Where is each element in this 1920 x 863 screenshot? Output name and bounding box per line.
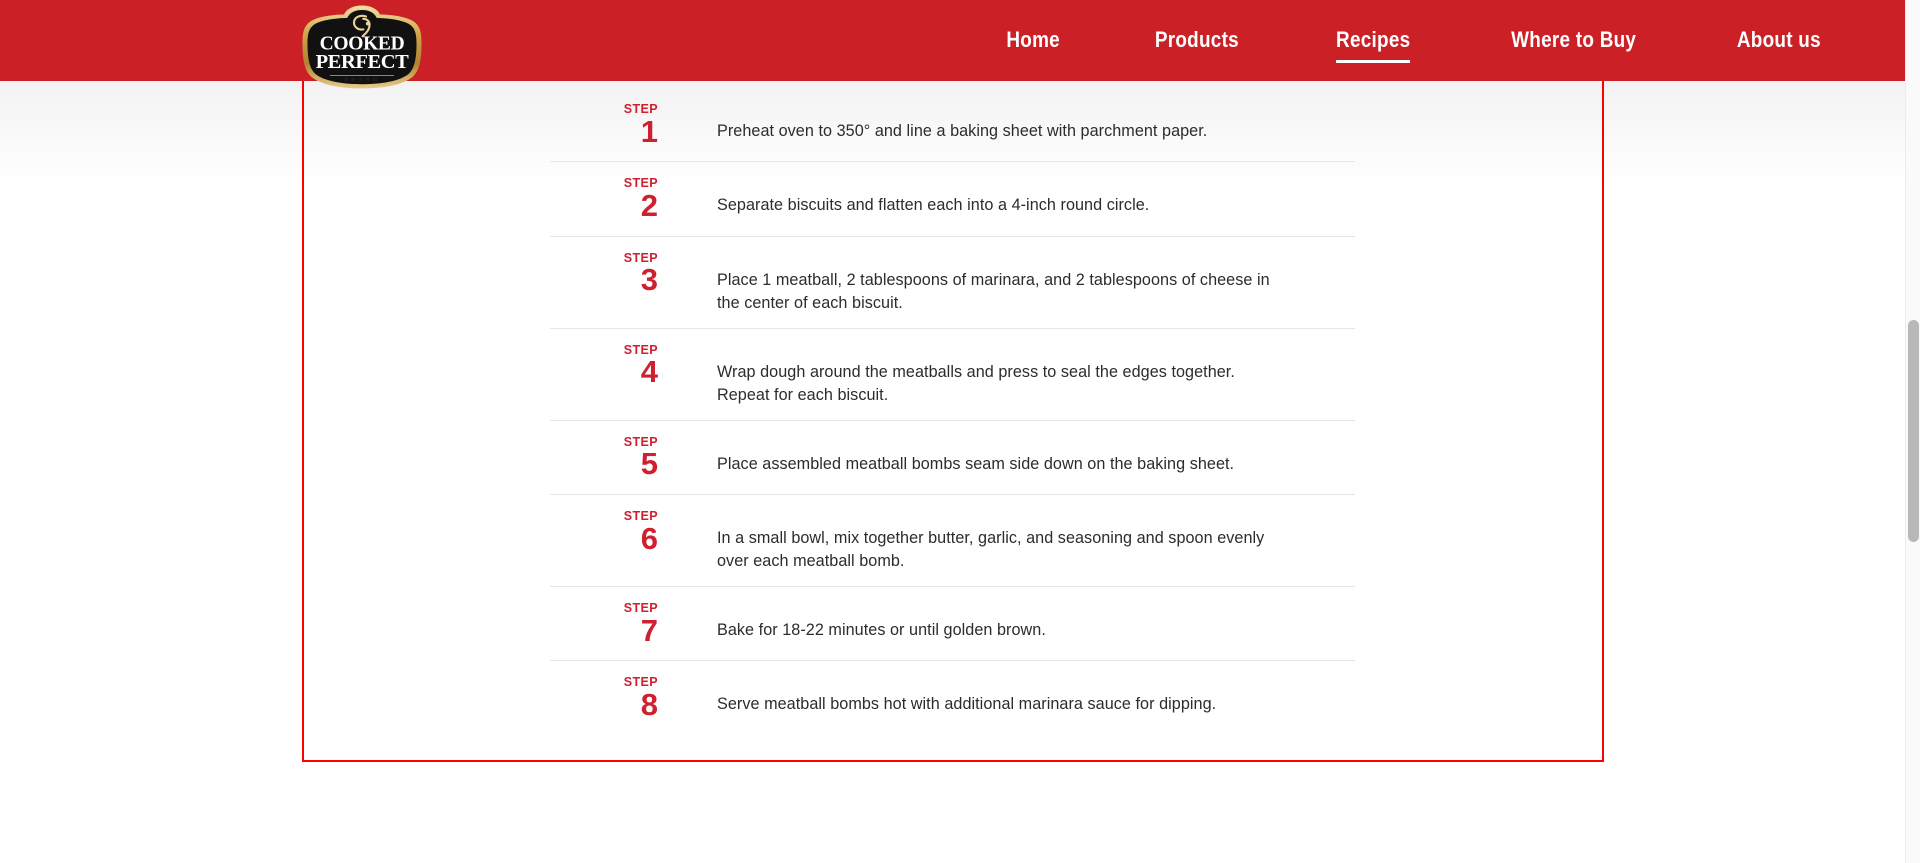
step-instruction: Bake for 18-22 minutes or until golden b… [670,600,1290,642]
step-row: STEP 5 Place assembled meatball bombs se… [550,421,1355,495]
nav-item-recipes[interactable]: Recipes [1336,19,1410,63]
step-number: 4 [550,356,658,389]
page-root: Home Products Recipes Where to Buy About… [0,0,1920,863]
nav-item-about-us[interactable]: About us [1737,19,1821,63]
nav-item-products[interactable]: Products [1155,19,1239,63]
vertical-scrollbar[interactable] [1905,0,1920,863]
scrollbar-thumb[interactable] [1908,320,1919,542]
step-marker: STEP 1 [550,101,670,148]
step-number: 5 [550,448,658,481]
site-header: Home Products Recipes Where to Buy About… [0,0,1905,81]
nav-item-home[interactable]: Home [1006,19,1060,63]
step-marker: STEP 5 [550,434,670,481]
step-number: 2 [550,190,658,223]
step-instruction: Serve meatball bombs hot with additional… [670,674,1290,716]
step-marker: STEP 2 [550,175,670,222]
step-marker: STEP 3 [550,250,670,297]
step-row: STEP 6 In a small bowl, mix together but… [550,495,1355,587]
step-row: STEP 1 Preheat oven to 350° and line a b… [550,88,1355,162]
nav-item-where-to-buy[interactable]: Where to Buy [1511,19,1636,63]
step-row: STEP 8 Serve meatball bombs hot with add… [550,661,1355,734]
step-instruction: In a small bowl, mix together butter, ga… [670,508,1290,573]
step-instruction: Wrap dough around the meatballs and pres… [670,342,1290,407]
step-instruction: Place assembled meatball bombs seam side… [670,434,1290,476]
step-row: STEP 7 Bake for 18-22 minutes or until g… [550,587,1355,661]
step-instruction: Place 1 meatball, 2 tablespoons of marin… [670,250,1290,315]
recipe-steps-list: STEP 1 Preheat oven to 350° and line a b… [550,88,1355,734]
step-instruction: Preheat oven to 350° and line a baking s… [670,101,1290,143]
step-row: STEP 3 Place 1 meatball, 2 tablespoons o… [550,237,1355,329]
svg-text:BRAND: BRAND [344,77,380,84]
step-row: STEP 4 Wrap dough around the meatballs a… [550,329,1355,421]
step-marker: STEP 8 [550,674,670,721]
step-row: STEP 2 Separate biscuits and flatten eac… [550,162,1355,236]
step-number: 7 [550,615,658,648]
step-number: 8 [550,689,658,722]
step-marker: STEP 7 [550,600,670,647]
step-number: 6 [550,523,658,556]
step-number: 3 [550,264,658,297]
brand-logo[interactable]: COOKED PERFECT BRAND [300,4,424,92]
step-marker: STEP 6 [550,508,670,555]
main-navigation: Home Products Recipes Where to Buy About… [960,0,1870,81]
step-marker: STEP 4 [550,342,670,389]
svg-text:PERFECT: PERFECT [316,51,410,73]
step-instruction: Separate biscuits and flatten each into … [670,175,1290,217]
step-number: 1 [550,116,658,149]
